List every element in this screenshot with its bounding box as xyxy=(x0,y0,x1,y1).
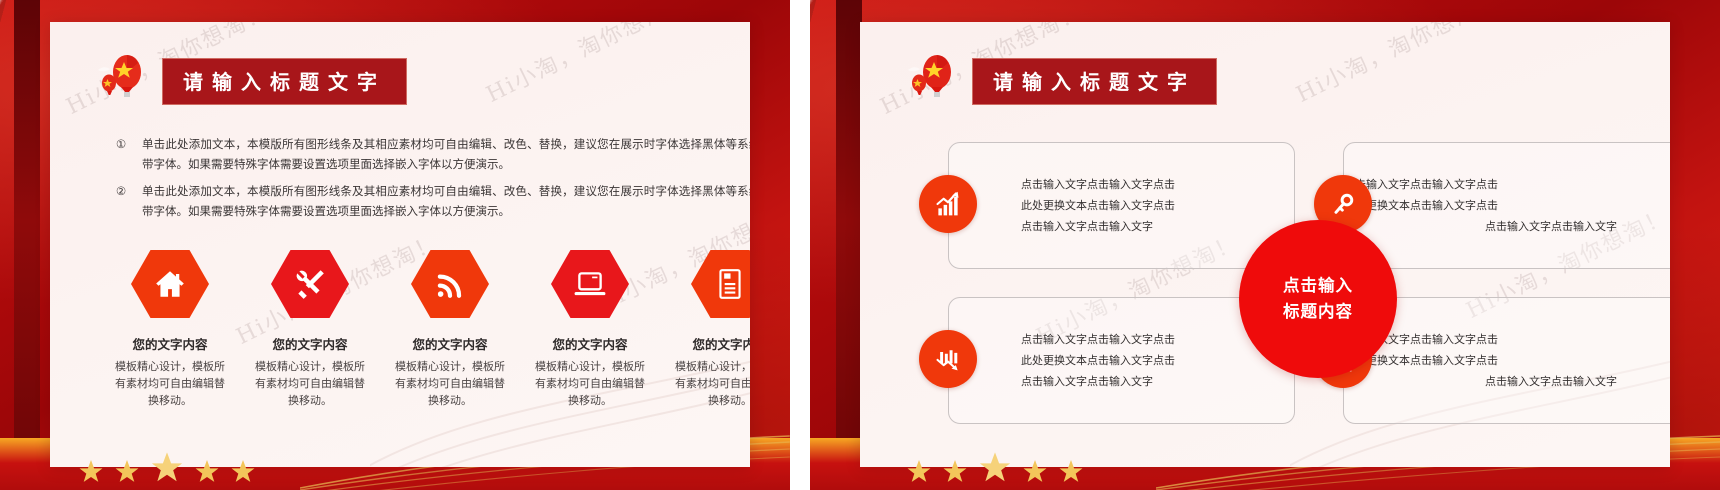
feature-item-1[interactable]: 您的文字内容 模板精心设计，模板所有素材均可自由编辑替换移动。 xyxy=(100,250,240,409)
feature-row: 您的文字内容 模板精心设计，模板所有素材均可自由编辑替换移动。 您的文字内容 模… xyxy=(100,250,750,409)
center-title-circle[interactable]: 点击输入 标题内容 xyxy=(1239,220,1397,378)
info-line: 点击输入文字点击输入文字点击 xyxy=(1021,329,1175,350)
diagram: 点击输入文字点击输入文字点击 此处更换文本点击输入文字点击 点击输入文字点击输入… xyxy=(948,142,1670,442)
feature-desc: 模板精心设计，模板所有素材均可自由编辑替换移动。 xyxy=(674,358,750,409)
star-icon xyxy=(194,459,220,484)
feature-item-3[interactable]: 您的文字内容 模板精心设计，模板所有素材均可自由编辑替换移动。 xyxy=(380,250,520,409)
document-icon[interactable] xyxy=(691,250,750,318)
page-title: 请输入标题文字 xyxy=(183,70,386,94)
slide-card: Hi小淘，淘你想淘！ Hi小淘，淘你想淘！ Hi小淘，淘你想淘！ Hi小淘，淘你… xyxy=(50,22,750,467)
feature-item-4[interactable]: 您的文字内容 模板精心设计，模板所有素材均可自由编辑替换移动。 xyxy=(520,250,660,409)
hot-air-balloon-icon xyxy=(906,52,958,110)
watermark: Hi小淘，淘你想淘！ xyxy=(1290,22,1504,109)
slide-header: 请输入标题文字 xyxy=(96,52,407,110)
info-line: 点击输入文字点击输入文字 xyxy=(1021,371,1175,392)
feature-title: 您的文字内容 xyxy=(692,334,750,353)
star-icon xyxy=(906,459,932,484)
chart-down-icon[interactable] xyxy=(919,330,977,388)
slide-gap xyxy=(790,0,810,490)
info-line: 点击输入文字点击输入文字 xyxy=(1344,216,1617,237)
feature-item-2[interactable]: 您的文字内容 模板精心设计，模板所有素材均可自由编辑替换移动。 xyxy=(240,250,380,409)
star-icon xyxy=(1058,459,1084,484)
star-icon xyxy=(78,459,104,484)
list-item: ② 单击此处添加文本，本模版所有图形线条及其相应素材均可自由编辑、改色、替换，建… xyxy=(112,181,750,221)
slide-title-banner: 请输入标题文字 xyxy=(162,58,407,105)
star-icon xyxy=(230,459,256,484)
info-line: 点击输入文字点击输入文字点击 xyxy=(1021,174,1175,195)
info-line: 此处更换文本点击输入文字点击 xyxy=(1344,350,1617,371)
laptop-icon[interactable] xyxy=(551,250,629,318)
info-box-text: 点击输入文字点击输入文字点击 此处更换文本点击输入文字点击 点击输入文字点击输入… xyxy=(1344,174,1670,237)
bullet-marker: ② xyxy=(112,181,130,221)
chart-up-icon[interactable] xyxy=(919,175,977,233)
feature-title: 您的文字内容 xyxy=(132,334,207,353)
star-icon xyxy=(942,459,968,484)
info-line: 点击输入文字点击输入文字 xyxy=(1021,216,1175,237)
bullet-text: 单击此处添加文本，本模版所有图形线条及其相应素材均可自由编辑、改色、替换，建议您… xyxy=(142,134,750,174)
star-icon xyxy=(150,451,184,484)
info-box-text: 点击输入文字点击输入文字点击 此处更换文本点击输入文字点击 点击输入文字点击输入… xyxy=(949,174,1175,237)
feature-title: 您的文字内容 xyxy=(272,334,347,353)
center-title-line1: 点击输入 xyxy=(1283,273,1353,299)
slide-left[interactable]: Hi小淘，淘你想淘！ Hi小淘，淘你想淘！ Hi小淘，淘你想淘！ Hi小淘，淘你… xyxy=(0,0,790,490)
feature-desc: 模板精心设计，模板所有素材均可自由编辑替换移动。 xyxy=(114,358,226,409)
presentation-preview: Hi小淘，淘你想淘！ Hi小淘，淘你想淘！ Hi小淘，淘你想淘！ Hi小淘，淘你… xyxy=(0,0,1720,490)
star-decoration xyxy=(78,451,256,484)
info-line: 此处更换文本点击输入文字点击 xyxy=(1021,195,1175,216)
feature-desc: 模板精心设计，模板所有素材均可自由编辑替换移动。 xyxy=(394,358,506,409)
watermark: Hi小淘，淘你想淘！ xyxy=(480,22,694,109)
star-icon xyxy=(1022,459,1048,484)
bullet-text: 单击此处添加文本，本模版所有图形线条及其相应素材均可自由编辑、改色、替换，建议您… xyxy=(142,181,750,221)
hot-air-balloon-icon xyxy=(96,52,148,110)
background-strip xyxy=(14,0,40,490)
info-box-text: 点击输入文字点击输入文字点击 此处更换文本点击输入文字点击 点击输入文字点击输入… xyxy=(1344,329,1670,392)
info-box-text: 点击输入文字点击输入文字点击 此处更换文本点击输入文字点击 点击输入文字点击输入… xyxy=(949,329,1175,392)
star-decoration xyxy=(906,451,1084,484)
info-line: 此处更换文本点击输入文字点击 xyxy=(1021,350,1175,371)
slide-title-banner: 请输入标题文字 xyxy=(972,58,1217,105)
star-icon xyxy=(978,451,1012,484)
info-line: 点击输入文字点击输入文字点击 xyxy=(1344,174,1617,195)
feature-title: 您的文字内容 xyxy=(552,334,627,353)
list-item: ① 单击此处添加文本，本模版所有图形线条及其相应素材均可自由编辑、改色、替换，建… xyxy=(112,134,750,174)
bullet-marker: ① xyxy=(112,134,130,174)
feature-item-5[interactable]: 您的文字内容 模板精心设计，模板所有素材均可自由编辑替换移动。 xyxy=(660,250,750,409)
info-box-top-left[interactable]: 点击输入文字点击输入文字点击 此处更换文本点击输入文字点击 点击输入文字点击输入… xyxy=(948,142,1295,269)
home-icon[interactable] xyxy=(131,250,209,318)
info-line: 此处更换文本点击输入文字点击 xyxy=(1344,195,1617,216)
info-line: 点击输入文字点击输入文字 xyxy=(1344,371,1617,392)
background-strip xyxy=(836,0,862,490)
feature-title: 您的文字内容 xyxy=(412,334,487,353)
slide-card: Hi小淘，淘你想淘！ Hi小淘，淘你想淘！ Hi小淘，淘你想淘！ Hi小淘，淘你… xyxy=(860,22,1670,467)
feature-desc: 模板精心设计，模板所有素材均可自由编辑替换移动。 xyxy=(534,358,646,409)
center-title-line2: 标题内容 xyxy=(1283,299,1353,325)
slide-right[interactable]: Hi小淘，淘你想淘！ Hi小淘，淘你想淘！ Hi小淘，淘你想淘！ Hi小淘，淘你… xyxy=(810,0,1720,490)
feature-desc: 模板精心设计，模板所有素材均可自由编辑替换移动。 xyxy=(254,358,366,409)
rss-icon[interactable] xyxy=(411,250,489,318)
slide-header: 请输入标题文字 xyxy=(906,52,1217,110)
star-icon xyxy=(114,459,140,484)
info-box-top-right[interactable]: 点击输入文字点击输入文字点击 此处更换文本点击输入文字点击 点击输入文字点击输入… xyxy=(1343,142,1670,269)
bullet-list: ① 单击此处添加文本，本模版所有图形线条及其相应素材均可自由编辑、改色、替换，建… xyxy=(112,134,750,228)
page-title: 请输入标题文字 xyxy=(993,70,1196,94)
tools-icon[interactable] xyxy=(271,250,349,318)
